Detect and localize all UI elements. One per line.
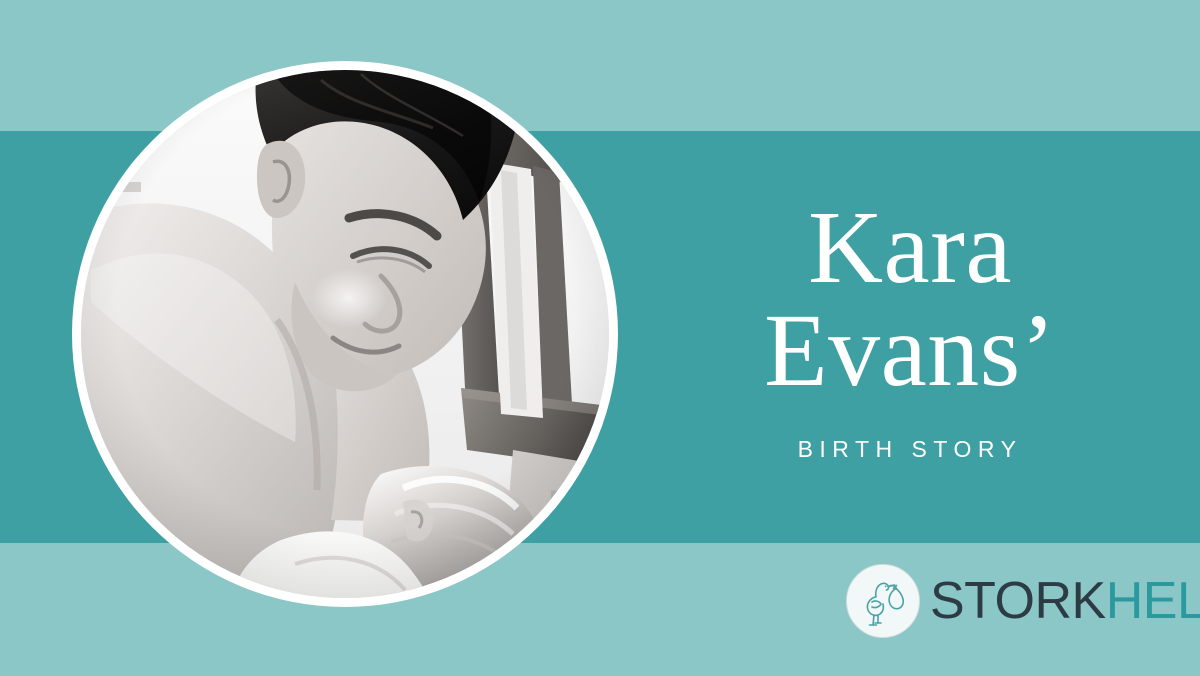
logo-word-helpers: HELPERS <box>1106 572 1200 630</box>
stork-with-bundle-icon <box>846 564 920 638</box>
page-title: Kara Evans’ <box>764 197 1056 403</box>
storkhelpers-logo[interactable]: STORKHELPERS <box>846 564 1200 638</box>
birth-story-banner: Kara Evans’ BIRTH STORY <box>0 0 1200 676</box>
logo-word-stork: STORK <box>930 572 1106 630</box>
headline-block: Kara Evans’ BIRTH STORY <box>640 150 1180 510</box>
page-subtitle: BIRTH STORY <box>798 436 1023 463</box>
stork-icon-graphic <box>855 573 911 629</box>
photo-circle-frame <box>72 61 618 607</box>
photo-illustration <box>81 70 609 598</box>
logo-wordmark: STORKHELPERS <box>930 575 1200 627</box>
mother-and-baby-photo <box>81 70 609 598</box>
